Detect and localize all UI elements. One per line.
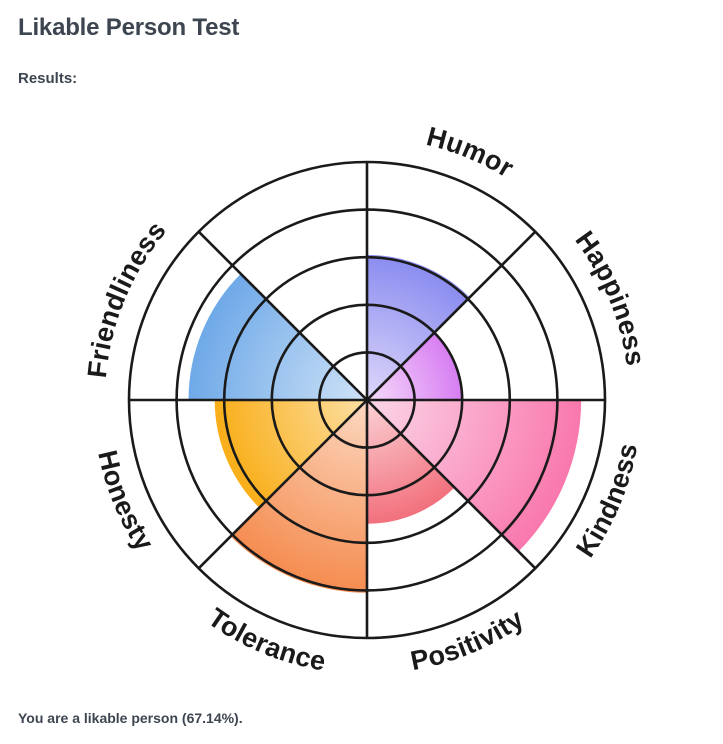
page-title: Likable Person Test: [18, 14, 239, 42]
result-summary-text: You are a likable person (67.14%).: [18, 710, 243, 726]
axis-label-friendliness: Friendliness: [82, 215, 172, 379]
axis-label-tolerance: Tolerance: [203, 602, 328, 676]
spoke-group: [129, 162, 605, 638]
radar-chart-svg: HumorHappinessKindnessPositivityToleranc…: [0, 100, 723, 680]
axis-label-honesty: Honesty: [92, 447, 160, 556]
results-label: Results:: [18, 70, 77, 87]
sector-friendliness[interactable]: [189, 274, 368, 400]
radar-chart: HumorHappinessKindnessPositivityToleranc…: [0, 100, 723, 680]
